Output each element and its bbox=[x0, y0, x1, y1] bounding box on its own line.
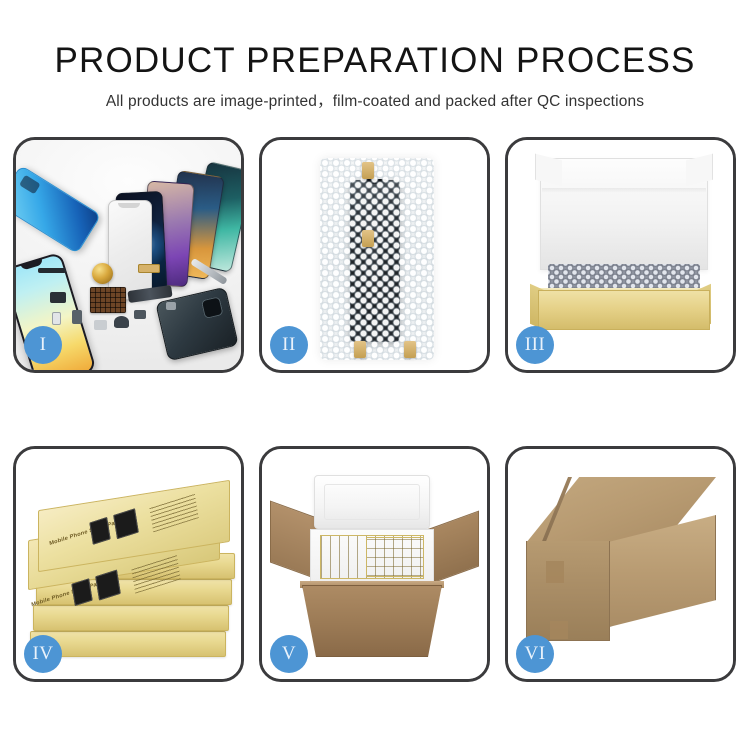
speaker-module-icon bbox=[92, 263, 113, 284]
foam-lid-icon bbox=[314, 475, 430, 529]
product-preparation-infographic: PRODUCT PREPARATION PROCESS All products… bbox=[0, 0, 750, 750]
tape-strip-icon bbox=[404, 341, 416, 358]
step-badge-2: II bbox=[270, 326, 308, 364]
header: PRODUCT PREPARATION PROCESS All products… bbox=[0, 40, 750, 111]
process-step-grid: I II bbox=[13, 137, 737, 682]
step-badge-1: I bbox=[24, 326, 62, 364]
panel-step-5[interactable]: V bbox=[259, 446, 490, 682]
connector-icon bbox=[138, 264, 160, 273]
panel-step-6[interactable]: VI bbox=[505, 446, 736, 682]
small-part-icon bbox=[166, 302, 176, 310]
white-box-lid-icon bbox=[540, 158, 708, 270]
lid-fold-line bbox=[542, 188, 706, 193]
step-badge-6: VI bbox=[516, 635, 554, 673]
small-part-icon bbox=[94, 320, 107, 330]
inner-boxes-right-icon bbox=[366, 537, 424, 577]
tape-strip-icon bbox=[362, 162, 374, 179]
retail-box-stack: Mobile Phone Spare Parts Mobile Phone Sp… bbox=[24, 471, 240, 661]
small-part-icon bbox=[52, 312, 61, 325]
step-badge-3: III bbox=[516, 326, 554, 364]
box-window-icon bbox=[89, 517, 110, 545]
panel-step-3[interactable]: III bbox=[505, 137, 736, 373]
carton-left-face bbox=[526, 541, 610, 641]
small-part-icon bbox=[72, 310, 82, 324]
step-badge-4: IV bbox=[24, 635, 62, 673]
bubble-texture-overlay bbox=[320, 158, 434, 360]
box-window-icon bbox=[113, 508, 139, 539]
panel-step-1[interactable]: I bbox=[13, 137, 244, 373]
panel-step-4[interactable]: Mobile Phone Spare Parts Mobile Phone Sp… bbox=[13, 446, 244, 682]
step-badge-5: V bbox=[270, 635, 308, 673]
bubble-wrap-bag bbox=[320, 158, 434, 360]
chip-array-icon bbox=[90, 287, 126, 313]
carton-tape-icon bbox=[550, 621, 568, 639]
kraft-box-front-icon bbox=[538, 290, 710, 330]
carton-front-face bbox=[302, 585, 442, 657]
box-spec-lines bbox=[149, 493, 199, 532]
small-part-icon bbox=[114, 316, 129, 328]
earpiece-bar-icon bbox=[38, 268, 66, 273]
small-part-icon bbox=[134, 310, 146, 319]
page-subtitle: All products are image-printed，film-coat… bbox=[0, 89, 750, 111]
tape-strip-icon bbox=[362, 230, 374, 247]
screen-protector-icon bbox=[108, 200, 152, 300]
small-part-icon bbox=[50, 292, 66, 303]
box-layer bbox=[33, 605, 229, 631]
carton-tape-icon bbox=[546, 561, 564, 583]
page-title: PRODUCT PREPARATION PROCESS bbox=[0, 40, 750, 82]
tape-strip-icon bbox=[354, 341, 366, 358]
panel-step-2[interactable]: II bbox=[259, 137, 490, 373]
box-label-text: Mobile Phone Spare Parts bbox=[49, 518, 123, 547]
